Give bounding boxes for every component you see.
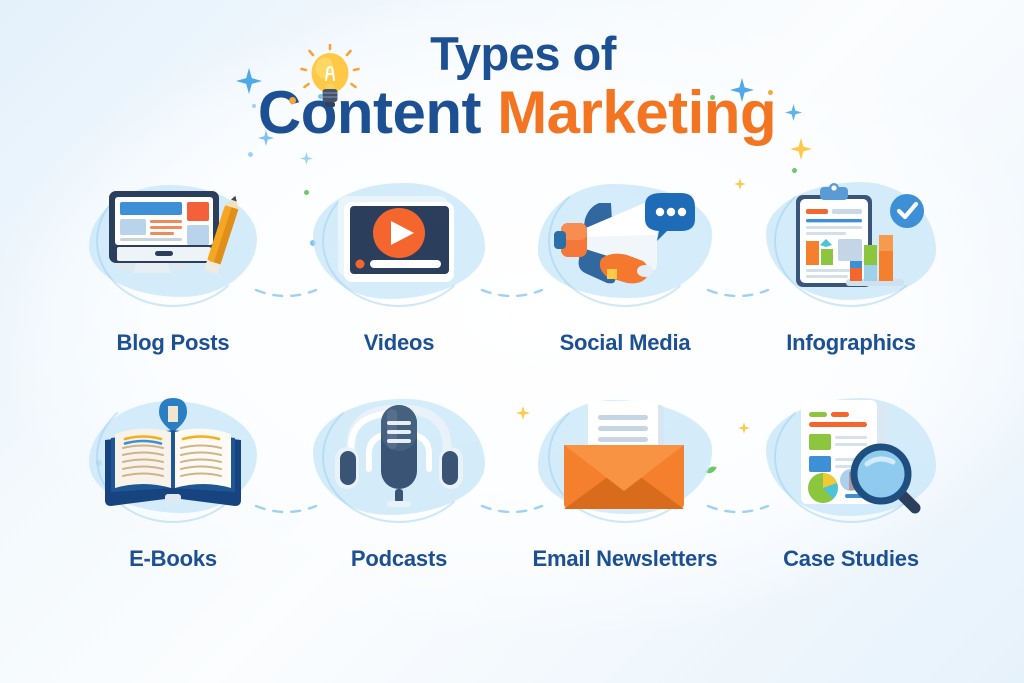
document-magnifier-icon xyxy=(775,398,927,516)
content-type-card-blog-posts[interactable]: Blog Posts xyxy=(60,178,286,394)
icon-stage xyxy=(309,178,489,304)
infographic-canvas: Types of Content Marketing xyxy=(0,0,1024,683)
content-type-card-social-media[interactable]: Social Media xyxy=(512,178,738,394)
sparkle-star-icon xyxy=(300,152,313,165)
open-book-icon xyxy=(95,396,251,518)
content-types-grid: Blog Posts Videos xyxy=(60,178,964,610)
content-type-label: E-Books xyxy=(129,546,217,572)
title-line-1: Types of xyxy=(0,30,1024,77)
decor-dot xyxy=(792,168,797,173)
icon-stage xyxy=(83,394,263,520)
megaphone-speech-bubble-icon xyxy=(549,185,701,297)
open-envelope-letter-icon xyxy=(548,399,702,515)
title-word-marketing: Marketing xyxy=(497,79,776,146)
content-type-label: Email Newsletters xyxy=(533,546,718,572)
microphone-headphones-icon xyxy=(329,397,469,517)
title-block: Types of Content Marketing xyxy=(0,30,1024,143)
icon-stage xyxy=(761,394,941,520)
title-word-content: Content xyxy=(258,79,481,146)
icon-stage xyxy=(535,178,715,304)
content-type-card-podcasts[interactable]: Podcasts xyxy=(286,394,512,610)
content-type-card-case-studies[interactable]: Case Studies xyxy=(738,394,964,610)
monitor-pencil-icon xyxy=(95,183,251,299)
icon-stage xyxy=(309,394,489,520)
icon-stage xyxy=(83,178,263,304)
title-line-2: Content Marketing xyxy=(0,83,1024,143)
content-type-label: Infographics xyxy=(786,330,916,356)
content-type-label: Case Studies xyxy=(783,546,919,572)
video-player-icon xyxy=(324,186,474,296)
content-type-label: Social Media xyxy=(560,330,691,356)
content-type-label: Videos xyxy=(364,330,435,356)
icon-stage xyxy=(761,178,941,304)
content-type-card-e-books[interactable]: E-Books xyxy=(60,394,286,610)
content-type-card-infographics[interactable]: Infographics xyxy=(738,178,964,394)
decor-dot xyxy=(248,152,253,157)
content-type-label: Blog Posts xyxy=(117,330,230,356)
lightbulb-icon xyxy=(300,44,360,116)
content-type-label: Podcasts xyxy=(351,546,447,572)
content-type-card-email-newsletters[interactable]: Email Newsletters xyxy=(512,394,738,610)
icon-stage xyxy=(535,394,715,520)
clipboard-bar-chart-icon xyxy=(776,183,926,299)
content-type-card-videos[interactable]: Videos xyxy=(286,178,512,394)
